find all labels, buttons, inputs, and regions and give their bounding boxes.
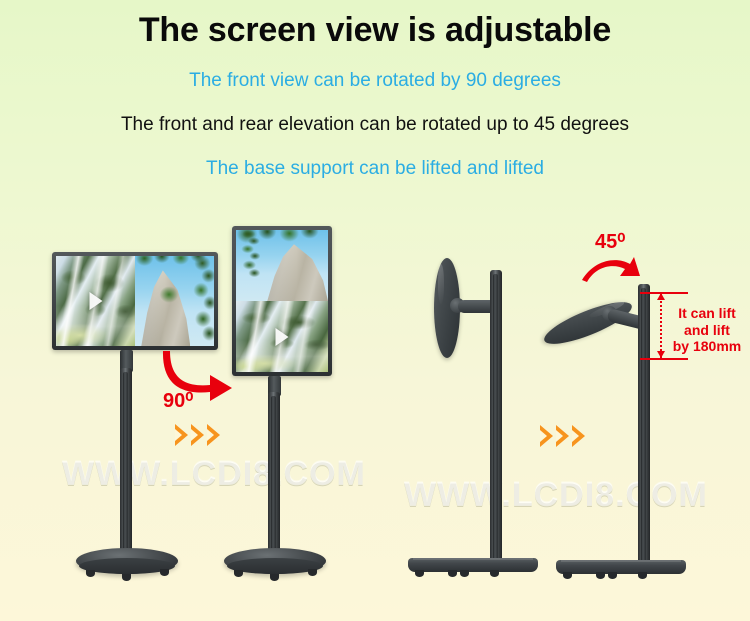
screen-panel-peak [135,256,214,346]
base-foot [448,570,457,577]
tree-column-right [182,256,214,346]
screen-panel-peak [236,230,328,301]
stand-pole-seam-landscape [123,372,128,554]
base-foot [160,569,169,576]
monitor-screen-landscape [56,256,214,346]
stand-pole-seam-side-upright [493,274,498,562]
tilt-45-arrow-icon [580,254,642,284]
lift-annotation-text: It can lift and lift by 180mm [668,305,746,355]
subtitle-tilt: The front and rear elevation can be rota… [0,114,750,136]
dim-arrow-down-icon [657,351,665,358]
chevron-right-icon [540,425,553,447]
tilt-45-label: 45⁰ [595,229,625,254]
heading-block: The screen view is adjustable The front … [0,0,750,180]
base-foot [638,572,647,579]
lift-line-2: and lift [668,322,746,339]
chevron-right-icon [191,424,204,446]
base-foot [608,572,617,579]
screen-panel-waterfall [56,256,135,346]
chevron-right-icon [175,424,188,446]
monitor-frame-landscape [52,252,218,350]
page-title: The screen view is adjustable [0,11,750,50]
peak-foliage [156,283,183,306]
lift-line-3: by 180mm [668,338,746,355]
base-foot [308,569,317,576]
monitor-frame-portrait [232,226,332,376]
chevron-right-icon [207,424,220,446]
stand-pole-seam-side-tilted [641,288,646,566]
dim-line-vertical [660,294,662,358]
play-icon[interactable] [276,328,289,346]
stand-pole-seam-portrait [271,396,276,556]
screen-panel-waterfall [236,301,328,372]
base-foot [563,572,572,579]
stand-front-landscape [52,252,232,582]
base-foot [460,570,469,577]
base-foot [86,570,95,577]
base-foot [490,570,499,577]
subtitle-rotate: The front view can be rotated by 90 degr… [0,70,750,92]
stand-base-flat-tilted [556,560,686,574]
stand-front-portrait [232,226,412,582]
base-foot [270,574,279,581]
dim-tick-bottom [640,358,688,360]
rotate-90-label: 90⁰ [163,388,193,413]
subtitle-lift: The base support can be lifted and lifte… [0,158,750,180]
dim-arrow-up-icon [657,293,665,300]
base-foot [415,570,424,577]
monitor-screen-portrait [236,230,328,372]
base-foot [234,570,243,577]
stand-base-flat-upright [408,558,538,572]
play-icon[interactable] [89,292,102,310]
tree-column-left [236,230,260,280]
lift-line-1: It can lift [668,305,746,322]
chevron-group-left [175,424,220,446]
base-foot [596,572,605,579]
base-foot [122,574,131,581]
